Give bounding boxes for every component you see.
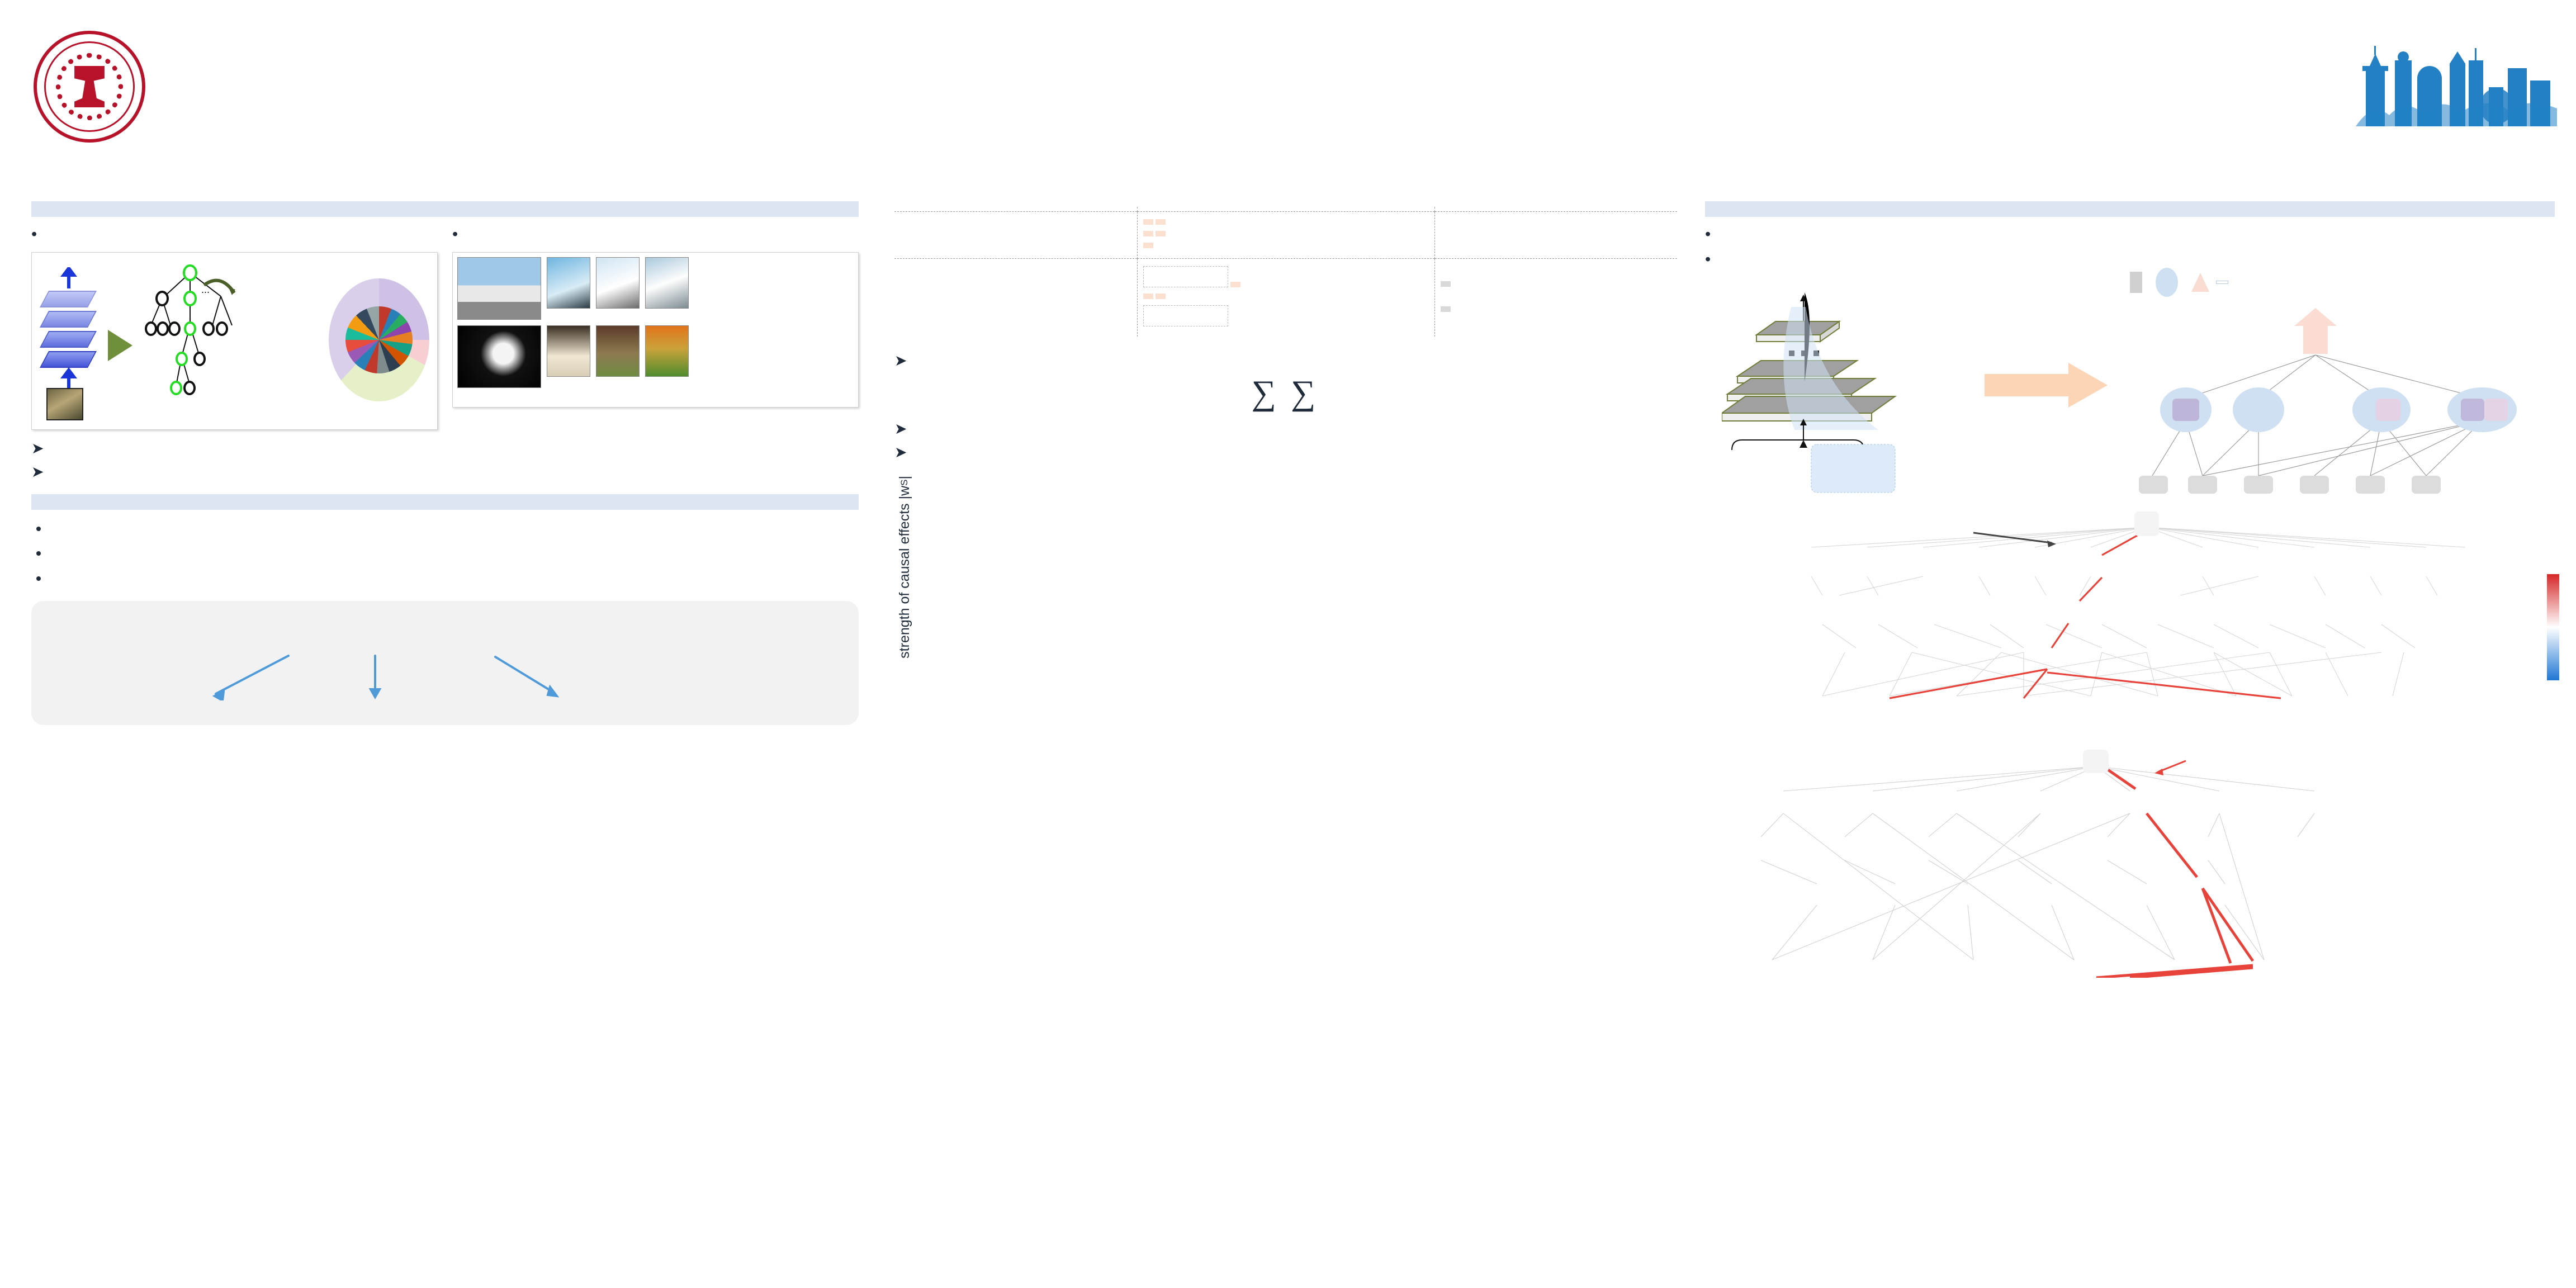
car-patches [547, 257, 689, 310]
faith-bullet-2: ➤ [894, 419, 1677, 439]
aog-edges [1789, 501, 2510, 725]
filter-pie-chart [329, 278, 429, 401]
image-aog-patch-row-wrap [1705, 984, 2555, 987]
poster-header [0, 0, 2576, 184]
horse-patches [547, 325, 689, 378]
pie-inner [345, 306, 413, 373]
formula-arrows [48, 652, 842, 700]
or-node-box [2134, 512, 2159, 536]
chip [1156, 219, 1166, 225]
legend-model-output [48, 703, 312, 706]
or-node-arrow-icon [2294, 308, 2337, 354]
or-node-swatch-icon [2191, 273, 2209, 292]
chip [1156, 231, 1166, 236]
chip-empty [1143, 305, 1228, 326]
summation-symbol-1: ∑ [1252, 380, 1276, 409]
proto-row-car [457, 257, 854, 321]
sentence-aog [1705, 501, 2555, 725]
list-item [596, 325, 640, 378]
andor-bullet-1: • [1705, 224, 2555, 245]
legend-or-node [2216, 281, 2228, 284]
and-interaction-table [894, 207, 1677, 337]
interaction-items [31, 518, 859, 589]
chip-gray [1441, 306, 1451, 312]
andor-illustration [1705, 272, 2555, 496]
proto-row-horse [457, 325, 854, 389]
background-col-left: • [31, 224, 438, 430]
patch-image [596, 257, 640, 309]
sentence-aog-canvas [1789, 501, 2510, 725]
horse-image [457, 325, 541, 388]
table-row [894, 259, 1677, 337]
chevron-right-icon: ➤ [894, 419, 907, 439]
column-left: • [31, 201, 859, 738]
orange-arrow-icon [1985, 358, 2113, 412]
dnn-stack-figure [1722, 272, 1985, 496]
list-item [49, 518, 859, 539]
tree-graph: ... [137, 263, 254, 419]
andor-graph [2119, 304, 2532, 494]
chevron-right-icon: ➤ [894, 443, 907, 462]
chip-empty [1143, 266, 1228, 287]
bullet-dot: • [31, 224, 37, 245]
dnn-stack-icon [44, 291, 100, 386]
chevron-right-icon: ➤ [31, 439, 44, 458]
andor-bullet-2: • [1705, 249, 2555, 271]
green-arrow-icon [108, 330, 132, 361]
core-challenge-item-1: ➤ [31, 439, 859, 458]
vancouver-skyline-icon [2356, 44, 2557, 127]
row1-activated [1137, 212, 1434, 259]
col-header-input-sentence [894, 207, 1137, 212]
chip [1230, 282, 1240, 287]
row1-sentence [894, 212, 1137, 259]
decomposition-formula-card [31, 601, 859, 725]
section-header-interaction [31, 494, 859, 510]
chip [1156, 293, 1166, 299]
bullet-dot-2: • [452, 224, 458, 245]
chevron-right-icon: ➤ [31, 462, 44, 482]
represented-as-arrow [1985, 356, 2113, 357]
list-item [645, 325, 689, 378]
patch-image [645, 257, 689, 309]
row1-inactivated [1434, 212, 1677, 259]
colorbar-gradient [2547, 574, 2559, 680]
decomposition-formula [48, 615, 842, 639]
input-variable-swatch-icon [2130, 272, 2142, 293]
title-block [615, 39, 2152, 58]
col-header-activated [1137, 207, 1434, 212]
faith-bullet-3: ➤ [894, 443, 1677, 462]
aog-row-labels [1705, 515, 1772, 569]
sparsity-chart-group: strength of causal effects |wS| [894, 476, 1677, 659]
table-row [894, 212, 1677, 259]
core-challenge-block: ➤ ➤ [31, 439, 859, 482]
bird-photo [46, 388, 83, 420]
formula-legend [48, 703, 842, 706]
background-bullet-1: • [31, 224, 438, 245]
list-item [645, 257, 689, 310]
represented-as-label [1985, 356, 2113, 357]
bullet-dot: • [1705, 249, 1711, 271]
patch-image [645, 325, 689, 377]
core-challenge-item-2: ➤ [31, 462, 859, 482]
chip [1143, 231, 1153, 236]
legend-interaction-effects [577, 703, 842, 706]
decision-tree-figure: ... [31, 252, 438, 430]
list-item [596, 257, 640, 310]
proto-main-horse [457, 325, 541, 389]
list-item [547, 257, 590, 310]
chip [1143, 219, 1153, 225]
column-middle: ➤ ∑ ∑ ➤ ➤ strength o [894, 201, 1677, 659]
image-aog [1705, 727, 2555, 990]
bullet-dot: • [1705, 224, 1711, 245]
anvil-icon [72, 66, 107, 107]
patch-image [596, 325, 640, 377]
row2-sentence [894, 259, 1137, 337]
column-right: • • [1705, 201, 2555, 996]
car-image [457, 257, 541, 320]
poster-root: • [0, 0, 2576, 1288]
chip [1143, 293, 1153, 299]
and-node-icon [2233, 387, 2284, 432]
sigma-glyph: ∑ [1252, 374, 1276, 412]
faith-bullet-1: ➤ [894, 351, 1677, 371]
sigma-glyph: ∑ [1291, 374, 1315, 412]
list-item [547, 325, 590, 378]
andor-edges [2119, 304, 2532, 494]
col-header-inactivated [1434, 207, 1677, 212]
patch-image [547, 325, 590, 377]
background-col-right: • [452, 224, 859, 430]
and-node-swatch-icon [2156, 268, 2178, 297]
faithfulness-formula: ∑ ∑ [894, 380, 1677, 409]
up-arrow-icon [58, 267, 80, 290]
row2-activated [1137, 259, 1434, 337]
background-figures: • [31, 224, 859, 430]
table-header-row [894, 207, 1677, 212]
sjtu-logo [34, 17, 436, 157]
image-aog-edges [1705, 737, 2532, 978]
tree-ellipsis: ... [201, 284, 210, 295]
chip [1143, 243, 1153, 248]
legend-constant-bias [312, 703, 577, 706]
proto-main-car [457, 257, 541, 321]
section-header-andor [1705, 201, 2555, 217]
sjtu-seal-icon [34, 31, 145, 143]
patch-image [547, 257, 590, 309]
list-item [49, 567, 859, 589]
cvpr-logo [2171, 22, 2563, 157]
decision-tree-canvas: ... [36, 257, 433, 425]
list-item [49, 542, 859, 564]
aog-colorbar [2547, 574, 2563, 680]
stack-graphics [1722, 272, 1985, 496]
prototype-figure [452, 252, 859, 408]
chevron-right-icon: ➤ [894, 351, 907, 371]
section-header-background [31, 201, 859, 217]
andor-legend [2130, 268, 2228, 297]
row2-inactivated [1434, 259, 1677, 337]
chart-ylabel: strength of causal effects |wS| [894, 476, 913, 659]
chip-gray [1441, 281, 1451, 287]
background-bullet-2: • [452, 224, 859, 245]
pointer-arrow [1973, 533, 2052, 543]
summation-symbol-2: ∑ [1291, 380, 1315, 409]
